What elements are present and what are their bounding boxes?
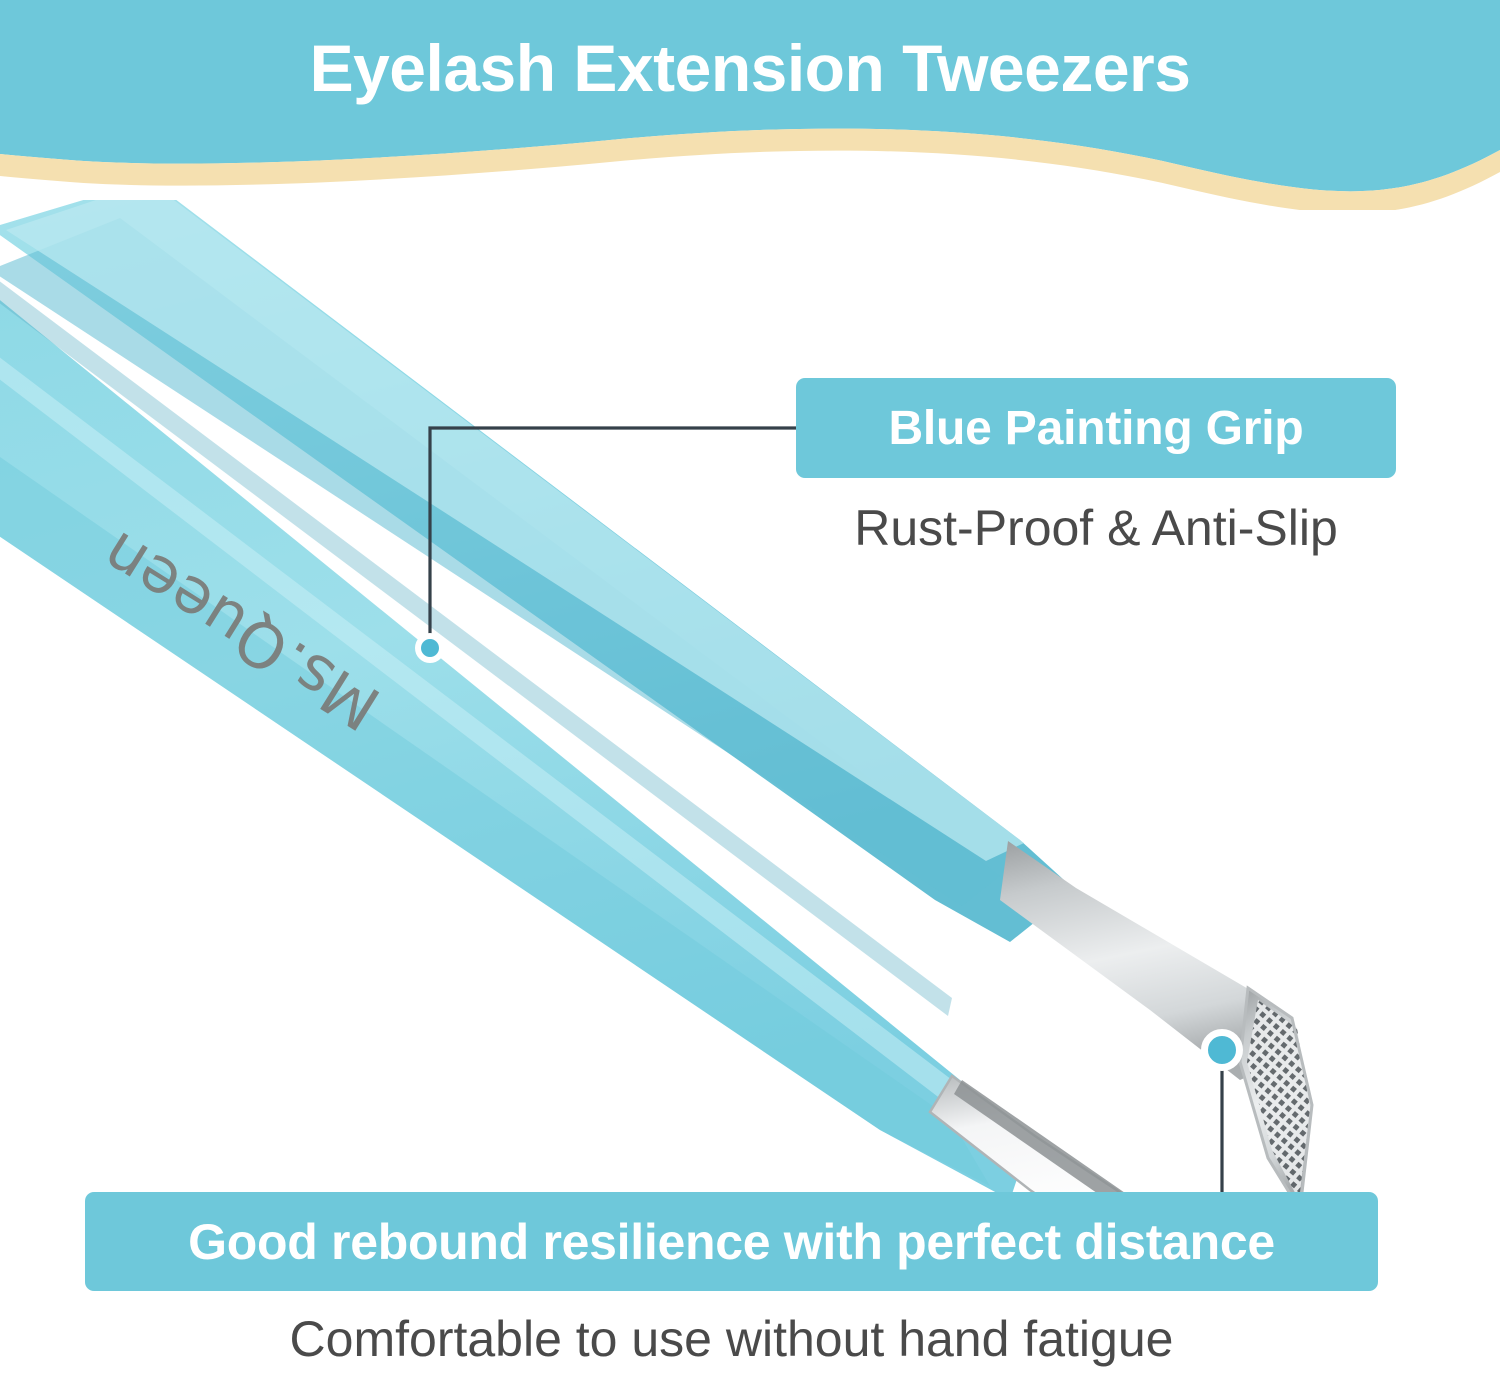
callout-marker-ring-icon: [415, 633, 445, 663]
callout-label: Blue Painting Grip: [888, 401, 1303, 456]
callout-subtitle-rebound-resilience: Comfortable to use without hand fatigue: [85, 1308, 1378, 1370]
product-infographic: Eyelash Extension Tweezers: [0, 0, 1500, 1379]
callout-subtitle-blue-painting-grip: Rust-Proof & Anti-Slip: [796, 497, 1396, 559]
page-title: Eyelash Extension Tweezers: [0, 26, 1500, 110]
product-image: Ms.Queen: [0, 200, 1500, 1200]
header-banner: Eyelash Extension Tweezers: [0, 0, 1500, 210]
callout-marker-dot-icon: [1201, 1029, 1243, 1071]
callout-blue-painting-grip: Blue Painting Grip: [796, 378, 1396, 478]
callout-label: Good rebound resilience with perfect dis…: [188, 1213, 1275, 1271]
callout-rebound-resilience: Good rebound resilience with perfect dis…: [85, 1192, 1378, 1291]
tweezers-illustration: [0, 200, 1500, 1200]
